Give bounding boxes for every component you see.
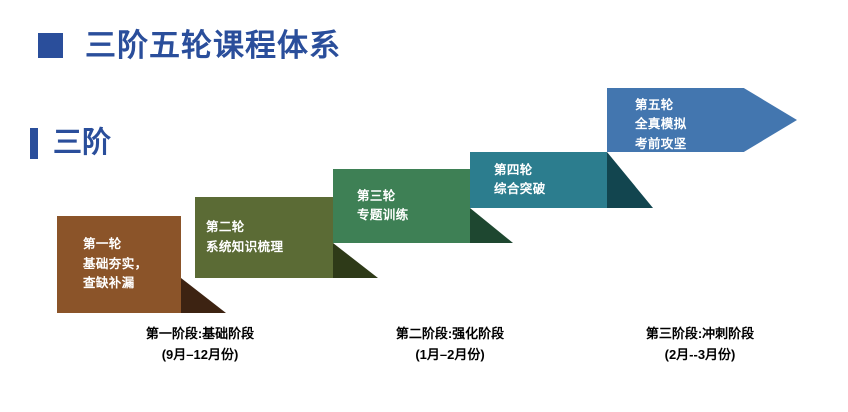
caption-phase-2-title: 第二阶段:强化阶段 <box>335 323 565 344</box>
step-round-2-line2: 系统知识梳理 <box>206 238 333 257</box>
caption-phase-2-period: (1月–2月份) <box>335 344 565 365</box>
step-round-1-label: 第一轮 基础夯实， 查缺补漏 <box>57 216 181 313</box>
caption-phase-3: 第三阶段:冲刺阶段 (2月--3月份) <box>585 323 815 366</box>
step-round-4-shadow <box>470 208 513 243</box>
step-round-5[interactable]: 第五轮 全真模拟 考前攻坚 <box>607 88 797 152</box>
caption-phase-2: 第二阶段:强化阶段 (1月–2月份) <box>335 323 565 366</box>
step-round-5-shadow <box>607 152 653 208</box>
caption-phase-1: 第一阶段:基础阶段 (9月–12月份) <box>85 323 315 366</box>
step-round-4-line1: 第四轮 <box>494 161 607 180</box>
step-round-1[interactable]: 第一轮 基础夯实， 查缺补漏 <box>57 216 181 313</box>
caption-phase-3-period: (2月--3月份) <box>585 344 815 365</box>
step-round-5-line3: 考前攻坚 <box>635 135 797 154</box>
step-round-3-line1: 第三轮 <box>357 187 470 206</box>
step-round-3[interactable]: 第三轮 专题训练 <box>333 169 470 243</box>
step-round-2[interactable]: 第二轮 系统知识梳理 <box>195 197 333 278</box>
step-round-5-line1: 第五轮 <box>635 96 797 115</box>
step-round-1-line2: 基础夯实， <box>83 255 181 274</box>
step-round-4[interactable]: 第四轮 综合突破 <box>470 152 607 208</box>
step-round-4-label: 第四轮 综合突破 <box>470 152 607 208</box>
step-round-5-label: 第五轮 全真模拟 考前攻坚 <box>607 88 797 152</box>
step-round-2-shadow <box>181 278 226 313</box>
caption-phase-1-period: (9月–12月份) <box>85 344 315 365</box>
step-round-2-label: 第二轮 系统知识梳理 <box>195 197 333 278</box>
caption-phase-3-title: 第三阶段:冲刺阶段 <box>585 323 815 344</box>
step-round-5-line2: 全真模拟 <box>635 115 797 134</box>
caption-phase-1-title: 第一阶段:基础阶段 <box>85 323 315 344</box>
step-round-1-line3: 查缺补漏 <box>83 274 181 293</box>
step-round-3-shadow <box>333 243 378 278</box>
step-round-3-line2: 专题训练 <box>357 206 470 225</box>
step-round-4-line2: 综合突破 <box>494 180 607 199</box>
step-round-3-label: 第三轮 专题训练 <box>333 169 470 243</box>
step-round-2-line1: 第二轮 <box>206 218 333 237</box>
step-round-1-line1: 第一轮 <box>83 235 181 254</box>
